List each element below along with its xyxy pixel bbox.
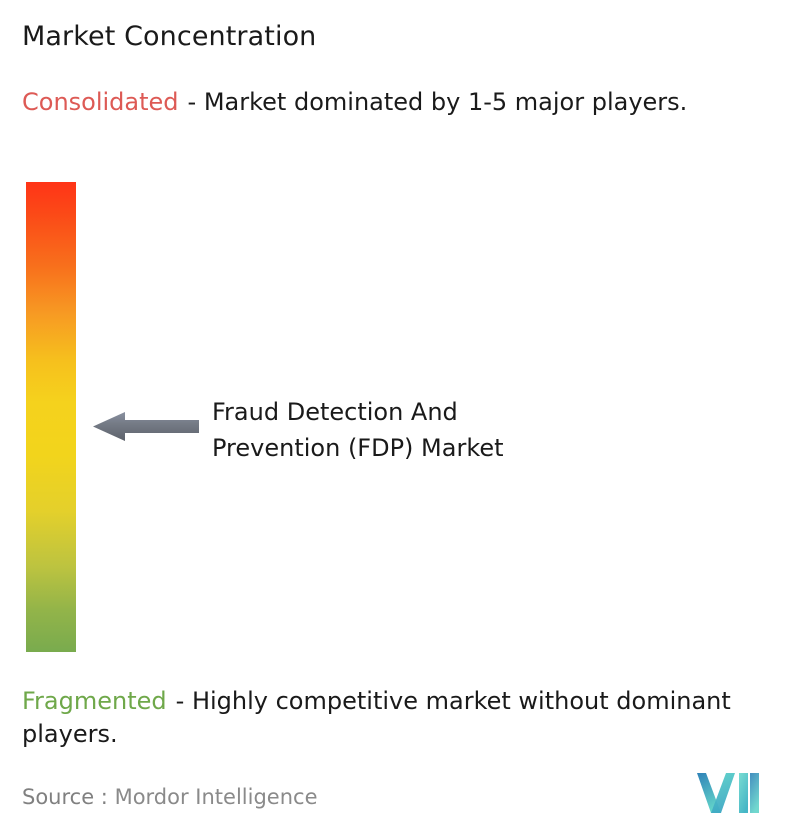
legend-fragmented: Fragmented- Highly competitive market wi… [22, 685, 782, 751]
left-arrow-icon [93, 411, 199, 442]
mordor-intelligence-logo [697, 771, 759, 815]
source-value: Mordor Intelligence [115, 785, 318, 809]
market-concentration-infographic: Market Concentration Consolidated- Marke… [0, 0, 796, 834]
source-attribution: Source : Mordor Intelligence [22, 783, 317, 811]
legend-fragmented-keyword: Fragmented [22, 687, 167, 715]
source-label: Source : [22, 785, 108, 809]
market-position-arrow [93, 411, 199, 442]
concentration-gradient-scale [26, 182, 76, 652]
legend-consolidated: Consolidated- Market dominated by 1-5 ma… [22, 86, 778, 119]
legend-fragmented-separator: - [176, 687, 185, 715]
market-position-label-line2: Prevention (FDP) Market [212, 430, 632, 466]
market-position-label: Fraud Detection And Prevention (FDP) Mar… [212, 394, 632, 466]
legend-consolidated-description: Market dominated by 1-5 major players. [204, 88, 687, 116]
legend-consolidated-separator: - [188, 88, 197, 116]
page-title: Market Concentration [22, 20, 316, 54]
market-position-label-line1: Fraud Detection And [212, 394, 632, 430]
mordor-intelligence-logo-icon [697, 771, 759, 815]
legend-consolidated-keyword: Consolidated [22, 88, 179, 116]
